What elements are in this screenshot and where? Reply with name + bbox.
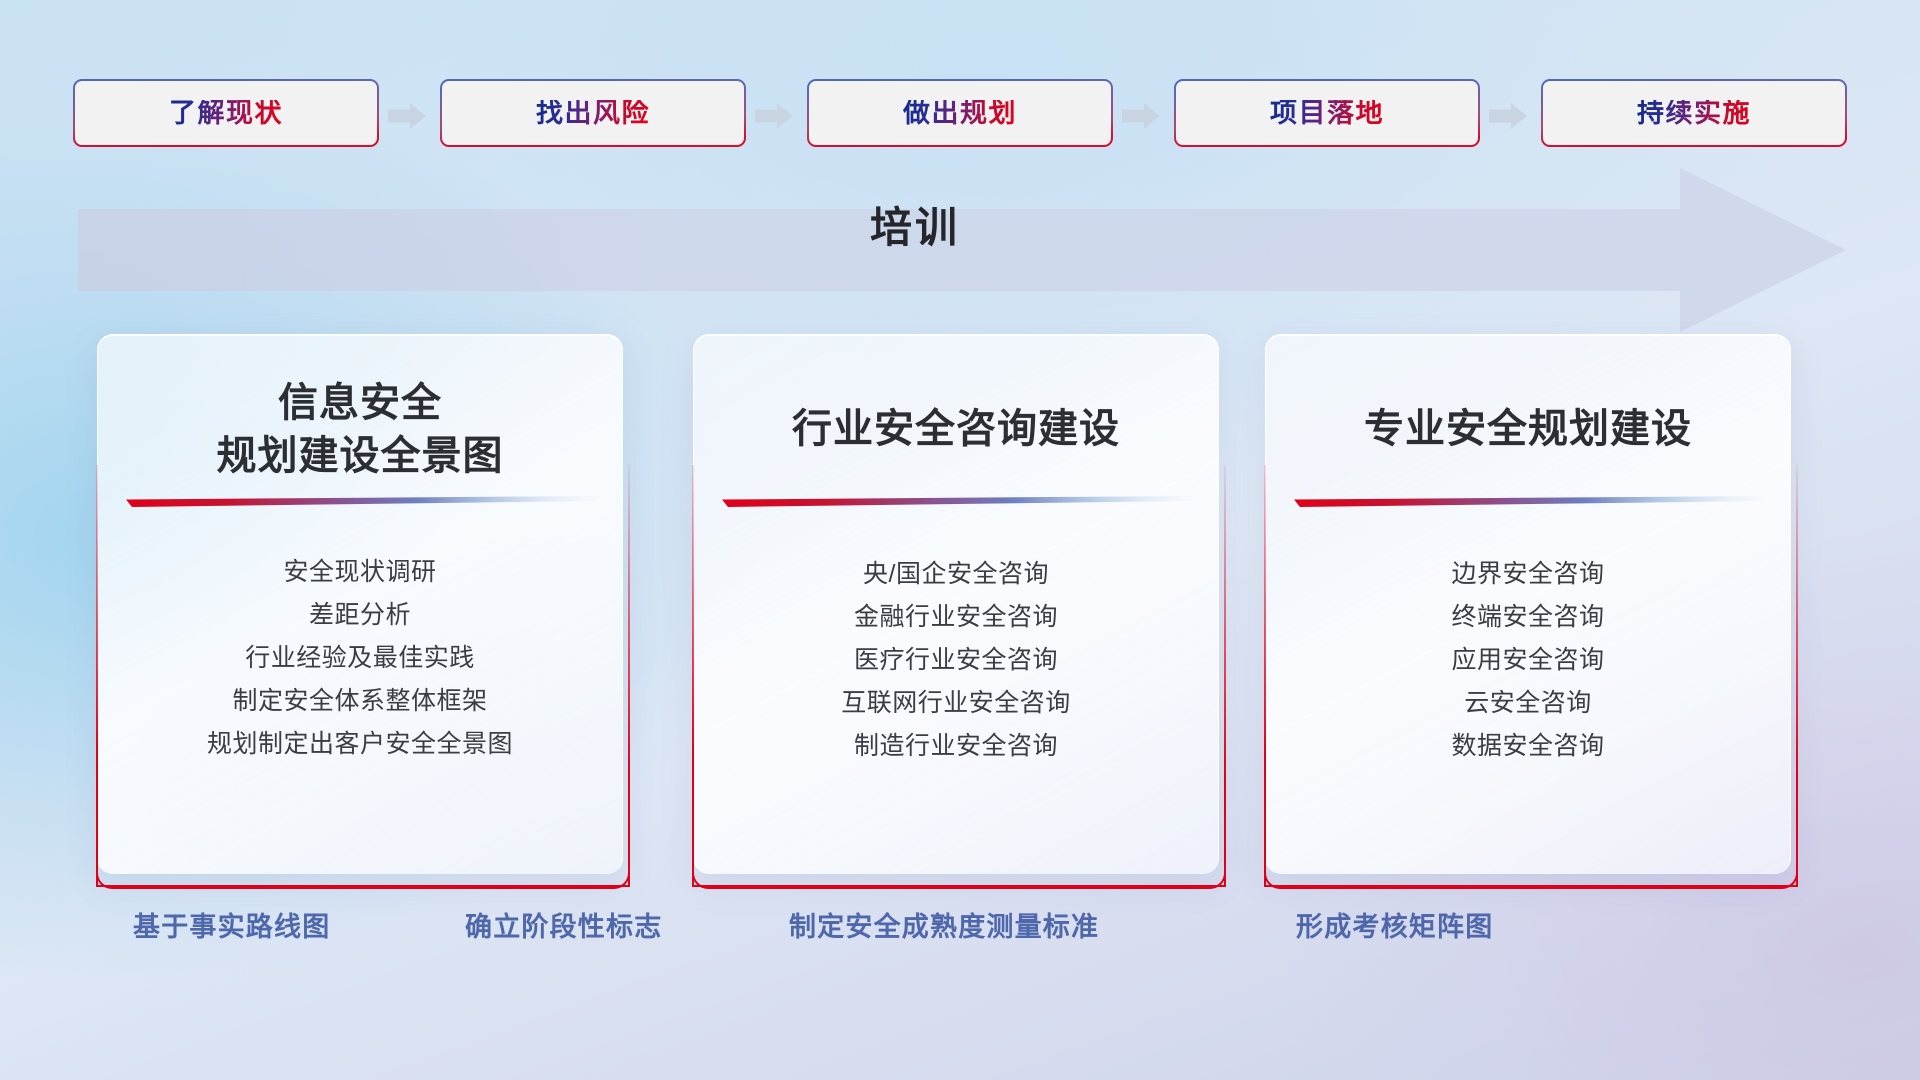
bottom-label-2: 确立阶段性标志 bbox=[465, 914, 662, 941]
list-item: 应用安全咨询 bbox=[1266, 639, 1790, 682]
card-info-security-blueprint[interactable]: 信息安全 规划建设全景图 安全现状调研 bbox=[97, 334, 623, 874]
card-title-1-line2: 规划建设全景图 bbox=[98, 430, 622, 483]
list-item: 数据安全咨询 bbox=[1266, 725, 1790, 768]
card-divider-3 bbox=[1294, 496, 1764, 507]
training-banner-label: 培训 bbox=[0, 207, 1830, 249]
card-list-2: 央/国企安全咨询 金融行业安全咨询 医疗行业安全咨询 互联网行业安全咨询 制造行… bbox=[694, 553, 1218, 768]
step-box-3[interactable]: 做出规划 bbox=[807, 79, 1113, 147]
training-banner-arrow-shape bbox=[78, 168, 1846, 332]
step-box-2[interactable]: 找出风险 bbox=[440, 79, 746, 147]
list-item: 互联网行业安全咨询 bbox=[694, 682, 1218, 725]
list-item: 制造行业安全咨询 bbox=[694, 725, 1218, 768]
list-item: 金融行业安全咨询 bbox=[694, 596, 1218, 639]
step-label-3: 做出规划 bbox=[903, 100, 1017, 127]
step-arrow-icon-3 bbox=[1122, 103, 1160, 129]
bottom-label-3: 制定安全成熟度测量标准 bbox=[789, 914, 1099, 941]
slide-canvas: 了解现状 找出风险 做出规划 项目落地 bbox=[0, 0, 1920, 1080]
list-item: 央/国企安全咨询 bbox=[694, 553, 1218, 596]
card-divider-2 bbox=[722, 496, 1192, 507]
step-arrow-icon-4 bbox=[1489, 103, 1527, 129]
card-title-3: 专业安全规划建设 bbox=[1266, 403, 1790, 456]
list-item: 差距分析 bbox=[98, 594, 622, 637]
step-box-4[interactable]: 项目落地 bbox=[1174, 79, 1480, 147]
card-accent-outline-bottom bbox=[692, 775, 1226, 889]
bottom-label-4: 形成考核矩阵图 bbox=[1296, 914, 1493, 941]
card-title-2-line1: 行业安全咨询建设 bbox=[694, 403, 1218, 456]
step-box-5[interactable]: 持续实施 bbox=[1541, 79, 1847, 147]
step-label-1: 了解现状 bbox=[169, 100, 283, 127]
list-item: 行业经验及最佳实践 bbox=[98, 637, 622, 680]
card-divider-1 bbox=[126, 496, 596, 507]
card-professional-security-planning[interactable]: 专业安全规划建设 边界安全咨询 终端安全咨询 bbox=[1265, 334, 1791, 874]
process-step-row: 了解现状 找出风险 做出规划 项目落地 bbox=[0, 0, 1920, 160]
card-accent-outline-bottom bbox=[1264, 775, 1798, 889]
card-title-3-line1: 专业安全规划建设 bbox=[1266, 403, 1790, 456]
step-box-1[interactable]: 了解现状 bbox=[73, 79, 379, 147]
step-arrow-icon-2 bbox=[755, 103, 793, 129]
list-item: 制定安全体系整体框架 bbox=[98, 680, 622, 723]
step-label-5: 持续实施 bbox=[1637, 100, 1751, 127]
card-title-1-line1: 信息安全 bbox=[98, 377, 622, 430]
card-title-2: 行业安全咨询建设 bbox=[694, 403, 1218, 456]
step-label-2: 找出风险 bbox=[536, 100, 650, 127]
list-item: 医疗行业安全咨询 bbox=[694, 639, 1218, 682]
list-item: 云安全咨询 bbox=[1266, 682, 1790, 725]
list-item: 边界安全咨询 bbox=[1266, 553, 1790, 596]
card-industry-security-consulting[interactable]: 行业安全咨询建设 央/国企安全咨询 金融行业安全咨 bbox=[693, 334, 1219, 874]
card-list-1: 安全现状调研 差距分析 行业经验及最佳实践 制定安全体系整体框架 规划制定出客户… bbox=[98, 551, 622, 766]
bottom-label-1: 基于事实路线图 bbox=[133, 914, 330, 941]
list-item: 安全现状调研 bbox=[98, 551, 622, 594]
step-label-4: 项目落地 bbox=[1270, 100, 1384, 127]
step-arrow-icon-1 bbox=[388, 103, 426, 129]
list-item: 规划制定出客户安全全景图 bbox=[98, 723, 622, 766]
card-title-1: 信息安全 规划建设全景图 bbox=[98, 377, 622, 483]
card-accent-outline-bottom bbox=[96, 775, 630, 889]
card-list-3: 边界安全咨询 终端安全咨询 应用安全咨询 云安全咨询 数据安全咨询 bbox=[1266, 553, 1790, 768]
list-item: 终端安全咨询 bbox=[1266, 596, 1790, 639]
